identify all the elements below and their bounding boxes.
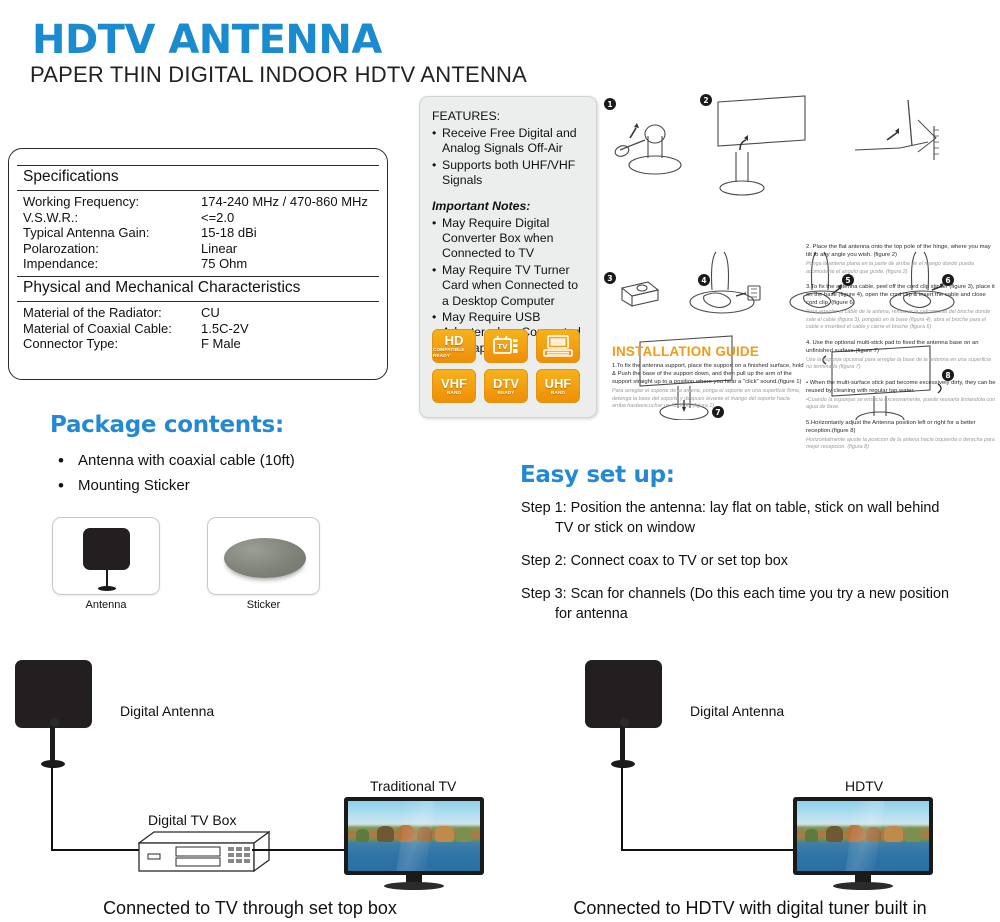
installation-step-4: 4. Use the optional multi-stick pad to f… bbox=[806, 339, 998, 372]
table-row: Impendance: 75 Ohm bbox=[23, 256, 379, 272]
installation-figures: 1 2 3 4 5 6 7 8 bbox=[600, 90, 1000, 250]
computer-icon bbox=[543, 335, 573, 357]
easy-setup-step-3-cont: for antenna bbox=[521, 604, 991, 624]
spec-key: Working Frequency: bbox=[23, 194, 201, 210]
installation-step-5-es: Horizontalmente ajuste la posicion de la… bbox=[806, 437, 998, 452]
package-contents-list: Antenna with coaxial cable (10ft) Mounti… bbox=[48, 448, 368, 498]
antenna-panel-icon bbox=[83, 528, 130, 570]
spec-value: Linear bbox=[201, 241, 379, 257]
vhf-badge: VHF BAND bbox=[432, 369, 476, 403]
set-top-box-icon bbox=[138, 831, 270, 873]
svg-text:1: 1 bbox=[607, 100, 612, 109]
table-row: V.S.W.R.: <=2.0 bbox=[23, 210, 379, 226]
antenna-base bbox=[41, 760, 65, 768]
antenna-label: Digital Antenna bbox=[120, 703, 214, 719]
antenna-caption: Antenna bbox=[52, 599, 160, 611]
dtv-badge: DTV READY bbox=[484, 369, 528, 403]
spec-key: Material of Coaxial Cable: bbox=[23, 321, 201, 337]
table-row: Connector Type: F Male bbox=[23, 336, 379, 352]
installation-guide-left: INSTALLATION GUIDE 1.To fix the antenna … bbox=[612, 344, 804, 411]
dtv-badge-sublabel: READY bbox=[497, 390, 514, 396]
installation-note-pad: • When the multi-surface stick pad becom… bbox=[806, 379, 998, 412]
easy-setup-step-3: Step 3: Scan for channels (Do this each … bbox=[521, 584, 991, 624]
svg-text:3: 3 bbox=[607, 274, 612, 283]
antenna-base-icon bbox=[98, 586, 116, 591]
spec-value: 75 Ohm bbox=[201, 256, 379, 272]
easy-setup-step-1-cont: TV or stick on window bbox=[521, 518, 991, 538]
features-heading: FEATURES: bbox=[432, 109, 586, 123]
hd-badge-sublabel: COMPATIBLE READY bbox=[433, 347, 475, 359]
list-item: Antenna with coaxial cable (10ft) bbox=[48, 448, 368, 473]
list-item: Receive Free Digital and Analog Signals … bbox=[432, 126, 586, 157]
installation-step-2: 2. Place the flat antenna onto the top p… bbox=[806, 243, 998, 276]
coax-cable-horizontal bbox=[621, 849, 796, 851]
spec-value: <=2.0 bbox=[201, 210, 379, 226]
coax-cable-to-tv bbox=[252, 849, 347, 851]
sticker-pad-icon bbox=[224, 538, 306, 578]
installation-step-3-es: Para arreglar el cable de la antena, rem… bbox=[806, 309, 998, 331]
diagram-caption: Connected to HDTV with digital tuner bui… bbox=[500, 898, 1000, 919]
characteristics-rows: Material of the Radiator: CU Material of… bbox=[17, 302, 379, 356]
coax-cable-vertical bbox=[51, 767, 53, 851]
antenna-hinge bbox=[620, 718, 629, 727]
easy-setup-title: Easy set up: bbox=[520, 462, 675, 488]
tv-label: HDTV bbox=[845, 778, 883, 794]
spec-key: Material of the Radiator: bbox=[23, 305, 201, 321]
hdtv-icon bbox=[793, 797, 933, 875]
package-contents-title: Package contents: bbox=[50, 412, 284, 438]
installation-step-3-en: 3.To fix the antenna cable, peel off the… bbox=[806, 283, 998, 307]
specifications-card: Specifications Working Frequency: 174-24… bbox=[8, 148, 388, 380]
traditional-tv-icon bbox=[344, 797, 484, 875]
table-row: Material of Coaxial Cable: 1.5C-2V bbox=[23, 321, 379, 337]
svg-text:2: 2 bbox=[703, 96, 708, 105]
sticker-product: Sticker bbox=[207, 517, 320, 611]
spec-value: CU bbox=[201, 305, 379, 321]
hd-badge-label: HD bbox=[445, 334, 464, 347]
spec-value: 1.5C-2V bbox=[201, 321, 379, 337]
spec-key: V.S.W.R.: bbox=[23, 210, 201, 226]
antenna-stand bbox=[620, 725, 625, 763]
easy-setup-step-2-label: Step 2: Connect coax to TV or set top bo… bbox=[521, 553, 788, 569]
spec-value: F Male bbox=[201, 336, 379, 352]
installation-step-1-es: Para arreglar el soporte de la antena, p… bbox=[612, 388, 804, 410]
important-notes-heading: Important Notes: bbox=[432, 199, 586, 213]
tv-icon: TV bbox=[493, 335, 519, 357]
uhf-badge: UHF BAND bbox=[536, 369, 580, 403]
vhf-badge-sublabel: BAND bbox=[447, 390, 461, 396]
installation-note-es: •Cuando la esponjas se ensucia excesivam… bbox=[806, 397, 998, 412]
easy-setup-step-3-label: Step 3: Scan for channels (Do this each … bbox=[521, 586, 949, 602]
easy-setup-steps: Step 1: Position the antenna: lay flat o… bbox=[521, 498, 991, 637]
installation-step-2-es: Ponga la antena plana en la parte de arr… bbox=[806, 261, 998, 276]
installation-step-4-es: Use la esponja opcional para arreglar la… bbox=[806, 357, 998, 372]
spec-value: 15-18 dBi bbox=[201, 225, 379, 241]
dtv-badge-label: DTV bbox=[493, 377, 519, 390]
features-panel: FEATURES: Receive Free Digital and Analo… bbox=[419, 96, 597, 418]
list-item: May Require TV Turner Card when Connecte… bbox=[432, 263, 586, 309]
sticker-caption: Sticker bbox=[207, 599, 320, 611]
easy-setup-step-2: Step 2: Connect coax to TV or set top bo… bbox=[521, 551, 991, 571]
page-title: HDTV ANTENNA bbox=[32, 17, 382, 63]
uhf-badge-sublabel: BAND bbox=[551, 390, 565, 396]
sticker-product-box bbox=[207, 517, 320, 595]
tv-label: Traditional TV bbox=[370, 778, 456, 794]
installation-note-en: • When the multi-surface stick pad becom… bbox=[806, 379, 998, 395]
installation-step-5-en: 5.Horizontanly adjust the Antenna positi… bbox=[806, 419, 998, 435]
easy-setup-step-1-label: Step 1: Position the antenna: lay flat o… bbox=[521, 500, 939, 516]
spec-key: Polarozation: bbox=[23, 241, 201, 257]
antenna-hinge bbox=[50, 718, 59, 727]
installation-step-4-en: 4. Use the optional multi-stick pad to f… bbox=[806, 339, 998, 355]
spec-value: 174-240 MHz / 470-860 MHz bbox=[201, 194, 379, 210]
computer-badge bbox=[536, 329, 580, 363]
table-row: Typical Antenna Gain: 15-18 dBi bbox=[23, 225, 379, 241]
coax-cable-vertical bbox=[621, 767, 623, 851]
installation-step-2-en: 2. Place the flat antenna onto the top p… bbox=[806, 243, 998, 259]
installation-guide-title: INSTALLATION GUIDE bbox=[612, 344, 804, 359]
antenna-stand bbox=[50, 725, 55, 763]
page-subtitle: PAPER THIN DIGITAL INDOOR HDTV ANTENNA bbox=[30, 62, 527, 88]
coax-cable-horizontal bbox=[51, 849, 141, 851]
svg-text:TV: TV bbox=[497, 343, 508, 351]
specifications-rows: Working Frequency: 174-240 MHz / 470-860… bbox=[17, 191, 379, 276]
spec-key: Impendance: bbox=[23, 256, 201, 272]
antenna-label: Digital Antenna bbox=[690, 703, 784, 719]
characteristics-heading: Physical and Mechanical Characteristics bbox=[17, 276, 379, 302]
list-item: Mounting Sticker bbox=[48, 473, 368, 498]
installation-guide-right: 2. Place the flat antenna onto the top p… bbox=[806, 243, 998, 459]
uhf-badge-label: UHF bbox=[545, 377, 572, 390]
installation-step-5: 5.Horizontanly adjust the Antenna positi… bbox=[806, 419, 998, 452]
set-top-box-label: Digital TV Box bbox=[148, 812, 236, 828]
table-row: Polarozation: Linear bbox=[23, 241, 379, 257]
antenna-stand-icon bbox=[106, 570, 109, 587]
vhf-badge-label: VHF bbox=[441, 377, 467, 390]
features-list: Receive Free Digital and Analog Signals … bbox=[432, 126, 586, 189]
diagram-hdtv: Digital Antenna HDTV Connected to HDTV w… bbox=[500, 645, 1000, 922]
diagram-set-top-box: Digital Antenna Digital TV Box Tradition… bbox=[0, 645, 500, 922]
specifications-heading: Specifications bbox=[17, 165, 379, 191]
installation-step-3: 3.To fix the antenna cable, peel off the… bbox=[806, 283, 998, 332]
antenna-product-box bbox=[52, 517, 160, 595]
installation-step-1-en: 1.To fix the antenna support, place the … bbox=[612, 362, 804, 386]
antenna-base bbox=[611, 760, 635, 768]
spec-key: Connector Type: bbox=[23, 336, 201, 352]
hd-badge: HD COMPATIBLE READY bbox=[432, 329, 476, 363]
list-item: May Require Digital Converter Box when C… bbox=[432, 216, 586, 262]
certification-badges: HD COMPATIBLE READY TV bbox=[432, 329, 584, 403]
antenna-product: Antenna bbox=[52, 517, 160, 611]
tv-badge: TV bbox=[484, 329, 528, 363]
easy-setup-step-1: Step 1: Position the antenna: lay flat o… bbox=[521, 498, 991, 538]
diagram-caption: Connected to TV through set top box bbox=[0, 898, 500, 919]
table-row: Working Frequency: 174-240 MHz / 470-860… bbox=[23, 194, 379, 210]
spec-key: Typical Antenna Gain: bbox=[23, 225, 201, 241]
list-item: Supports both UHF/VHF Signals bbox=[432, 158, 586, 189]
svg-text:4: 4 bbox=[701, 276, 706, 285]
table-row: Material of the Radiator: CU bbox=[23, 305, 379, 321]
